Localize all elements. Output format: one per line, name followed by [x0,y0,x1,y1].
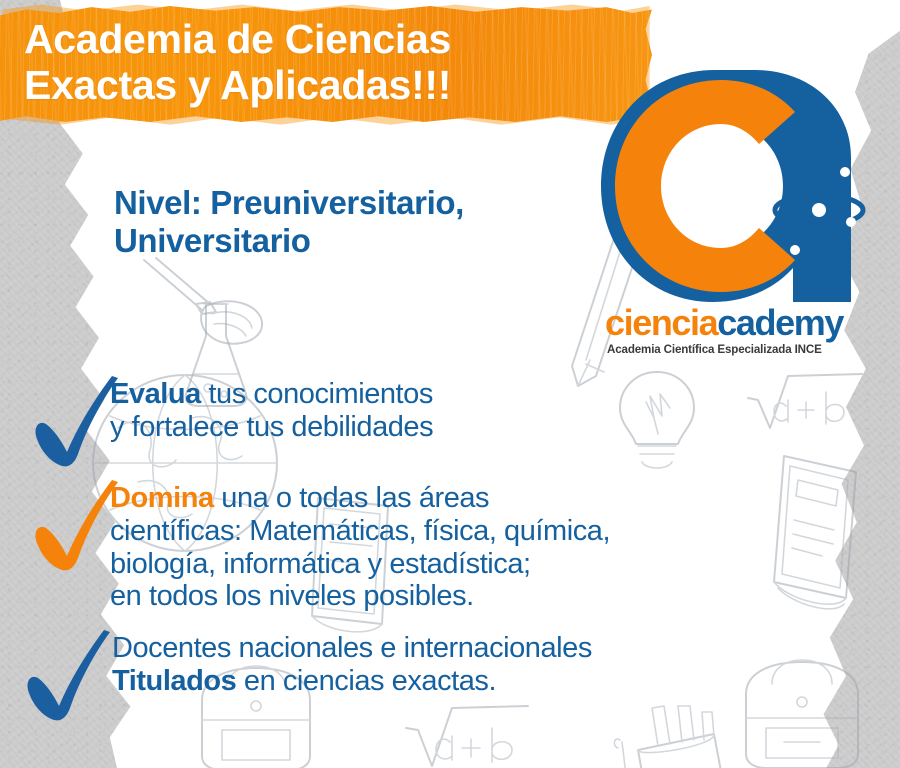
level-heading-line-1: Nivel: Preuniversitario, [114,184,634,222]
banner-title-line-2: Exactas y Aplicadas!!! [24,63,634,109]
header-banner: Academia de Ciencias Exactas y Aplicadas… [0,0,660,128]
logo-wordmark-ciencia: ciencia [605,302,717,343]
bullet-line: Docentes nacionales e internacionales [112,632,592,665]
banner-title: Academia de Ciencias Exactas y Aplicadas… [24,17,634,109]
checkmark-icon [34,478,120,574]
bullet-highlight: Titulados [112,665,236,697]
level-heading-line-2: Universitario [114,222,634,260]
bullet-text-evalua: Evalua tus conocimientos y fortalece tus… [110,378,433,444]
bullet-line: científicas: Matemáticas, física, químic… [110,515,610,548]
bullet-line: Domina una o todas las áreas [110,482,610,515]
bullet-line-rest: una o todas las áreas [214,482,489,514]
logo-tagline: Academia Científica Especializada INCE [607,343,897,356]
banner-title-line-1: Academia de Ciencias [24,17,634,63]
checkmark-icon [26,628,112,724]
bullet-line-rest: tus conocimientos [201,378,433,410]
bullet-line-rest: en ciencias exactas. [236,665,496,697]
level-heading: Nivel: Preuniversitario, Universitario [114,184,634,261]
cienciacademy-logo: cienciacademy Academia Científica Especi… [595,62,895,362]
bullet-line: y fortalece tus debilidades [110,411,433,444]
bullet-text-domina: Domina una o todas las áreas científicas… [110,482,610,613]
checkmark-icon [34,374,120,470]
bullet-highlight: Domina [110,482,214,514]
logo-a-mark-icon [595,62,895,312]
bullet-highlight: Evalua [110,378,201,410]
bullet-line: Evalua tus conocimientos [110,378,433,411]
bullet-line: en todos los niveles posibles. [110,580,610,613]
bullet-line: biología, informática y estadística; [110,548,610,581]
bullet-line: Titulados en ciencias exactas. [112,665,592,698]
logo-wordmark-cademy: cademy [717,302,843,343]
promotional-poster: Academia de Ciencias Exactas y Aplicadas… [0,0,900,768]
bullet-text-docentes: Docentes nacionales e internacionales Ti… [112,632,592,698]
logo-wordmark: cienciacademy [605,305,895,341]
